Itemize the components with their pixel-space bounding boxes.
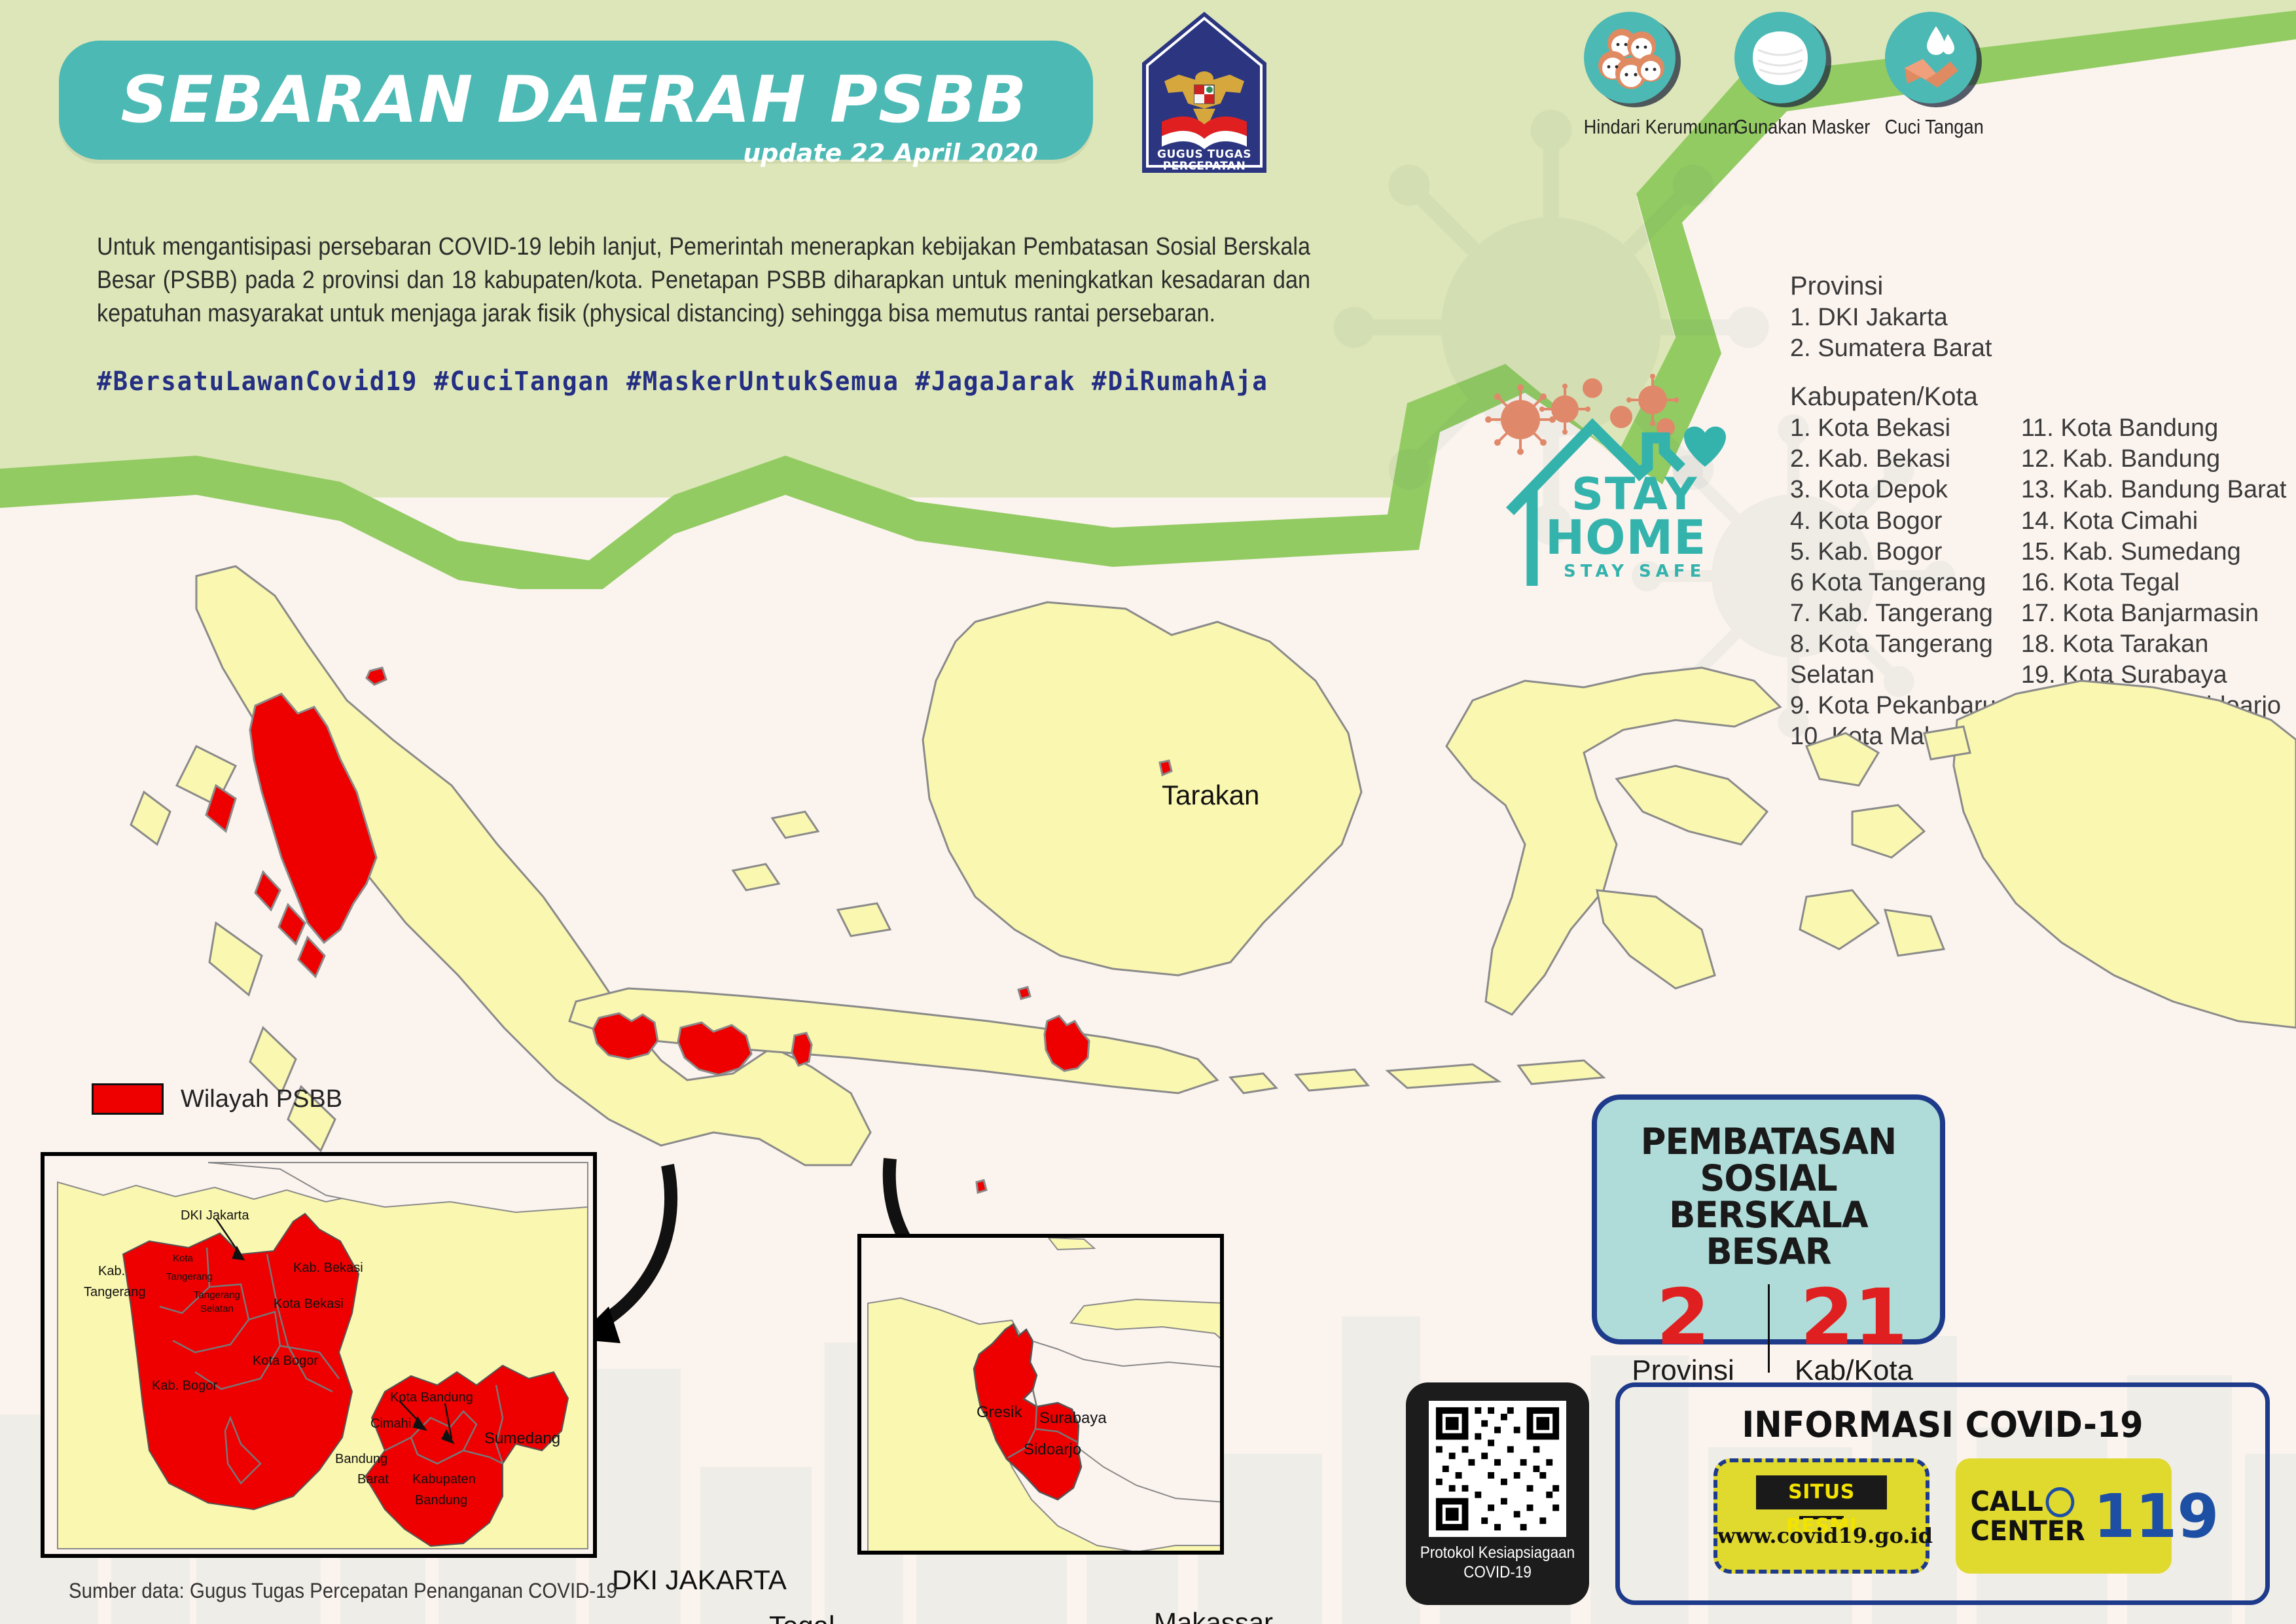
inset-label-bandung: Bandung — [335, 1452, 387, 1467]
list-item-provinsi: 2. Sumatera Barat — [1790, 333, 2287, 364]
call-center-line1: CALL — [1971, 1488, 2043, 1515]
call-center-number: 119 — [2093, 1481, 2219, 1551]
page-title: SEBARAN DAERAH PSBB — [120, 63, 1027, 137]
inset-label-kab-tangerang: Tangerang — [84, 1285, 146, 1300]
source-note: Sumber data: Gugus Tugas Percepatan Pena… — [69, 1579, 617, 1603]
icon-label-crowd: Hindari Kerumunan — [1584, 115, 1676, 139]
inset-label-kota: Kota — [173, 1253, 193, 1264]
list-heading-provinsi: Provinsi — [1790, 272, 2287, 301]
map-legend: Wilayah PSBB — [92, 1083, 342, 1115]
inset-label-gresik: Gresik — [977, 1403, 1022, 1422]
qr-caption-line2: COVID-19 — [1415, 1563, 1580, 1583]
map-label-tarakan: Tarakan — [1162, 780, 1259, 811]
map-label-dki-jakarta: DKI JAKARTA — [612, 1564, 787, 1596]
indonesia-map: Tarakan Pekanbaru SUMATERA BARAT Banjarm… — [0, 504, 2296, 1224]
list-item-kabkota: 1. Kota Bekasi — [1790, 413, 1998, 444]
stat-value-provinsi: 2 — [1608, 1278, 1759, 1356]
inset-label-selatan: Selatan — [200, 1303, 234, 1314]
inset-label-surabaya: Surabaya — [1039, 1409, 1107, 1428]
info-box-title: INFORMASI COVID-19 — [1640, 1404, 2246, 1445]
inset-label-tangerang-2: Tangerang — [194, 1290, 240, 1301]
inset-label-kota-bogor: Kota Bogor — [253, 1354, 318, 1369]
inset-map-jatim: Gresik Surabaya Sidoarjo — [857, 1234, 1224, 1555]
stat-value-kabkota: 21 — [1779, 1278, 1929, 1356]
inset-label-barat: Barat — [357, 1472, 389, 1487]
call-center-label: CALL CENTER — [1971, 1487, 2085, 1545]
inset-map-jabar: DKI Jakarta Kab. Bekasi Kota Bekasi Kota… — [41, 1152, 597, 1558]
legend-swatch-psbb — [92, 1083, 164, 1115]
crowd-icon — [1584, 12, 1676, 103]
icon-item-mask: Gunakan Masker — [1728, 12, 1833, 182]
legend-label-psbb: Wilayah PSBB — [181, 1085, 342, 1113]
qr-code-image — [1429, 1401, 1566, 1537]
inset-label-kabupaten: Kabupaten — [412, 1472, 476, 1487]
logo-text-line2: PERCEPATAN — [1142, 160, 1266, 173]
inset-label-sumedang: Sumedang — [484, 1430, 560, 1448]
logo-text-line1: GUGUS TUGAS — [1142, 148, 1266, 161]
map-label-makassar: Makassar — [1154, 1607, 1273, 1624]
intro-paragraph: Untuk mengantisipasi persebaran COVID-19… — [97, 230, 1310, 331]
inset-label-bandung-2: Bandung — [415, 1493, 467, 1508]
inset-label-cimahi: Cimahi — [370, 1416, 411, 1432]
covid-info-box: INFORMASI COVID-19 SITUS RESMI www.covid… — [1615, 1382, 2270, 1605]
phone-icon — [2045, 1487, 2074, 1517]
icon-label-mask: Gunakan Masker — [1734, 115, 1827, 139]
stat-row: 2 Provinsi 21 Kab/Kota — [1597, 1278, 1940, 1386]
map-label-tegal: Tegal — [769, 1610, 834, 1624]
icon-label-handwash: Cuci Tangan — [1885, 115, 1977, 139]
situs-resmi-badge: SITUS RESMI — [1756, 1475, 1887, 1509]
official-site-card[interactable]: SITUS RESMI www.covid19.go.id — [1713, 1458, 1929, 1574]
prevention-icons-group: Hindari Kerumunan Gunakan Masker — [1577, 12, 2232, 182]
inset-label-kab-bekasi: Kab. Bekasi — [293, 1261, 363, 1276]
list-item-kabkota: 11. Kota Bandung — [2021, 413, 2287, 444]
info-box-row: SITUS RESMI www.covid19.go.id CALL CENTE… — [1620, 1458, 2265, 1574]
icon-item-handwash: Cuci Tangan — [1878, 12, 1983, 182]
inset-label-kab: Kab. — [98, 1264, 125, 1279]
inset-label-kab-bogor: Kab. Bogor — [152, 1379, 217, 1394]
title-pill: SEBARAN DAERAH PSBB update 22 April 2020 — [59, 41, 1093, 160]
update-date: update 22 April 2020 — [743, 139, 1038, 168]
inset-label-sidoarjo: Sidoarjo — [1024, 1441, 1081, 1459]
website-url[interactable]: www.covid19.go.id — [1717, 1523, 1926, 1548]
stat-divider — [1768, 1284, 1770, 1372]
gugus-tugas-logo: GUGUS TUGAS PERCEPATAN — [1142, 12, 1266, 173]
list-item-kabkota: 3. Kota Depok — [1790, 475, 1998, 505]
inset-label-kota-bekasi: Kota Bekasi — [274, 1297, 344, 1312]
inset-label-tangerang: Tangerang — [166, 1271, 213, 1282]
handwash-icon — [1885, 12, 1977, 103]
list-item-kabkota: 2. Kab. Bekasi — [1790, 444, 1998, 475]
call-center-card[interactable]: CALL CENTER 119 — [1956, 1458, 2172, 1574]
stat-title-line1: PEMBATASAN SOSIAL — [1604, 1123, 1933, 1197]
stat-box-title: PEMBATASAN SOSIAL BERSKALA BESAR — [1604, 1123, 1933, 1270]
list-item-provinsi: 1. DKI Jakarta — [1790, 302, 2287, 333]
qr-code-card[interactable]: Protokol Kesiapsiagaan COVID-19 — [1406, 1382, 1589, 1605]
stat-title-line2: BERSKALA BESAR — [1604, 1197, 1933, 1270]
inset-label-dki-jakarta: DKI Jakarta — [181, 1208, 249, 1223]
mask-icon — [1734, 12, 1826, 103]
qr-caption-line1: Protokol Kesiapsiagaan — [1415, 1543, 1580, 1563]
icon-item-crowd: Hindari Kerumunan — [1577, 12, 1682, 182]
list-heading-kabkota: Kabupaten/Kota — [1790, 382, 2287, 412]
list-item-kabkota: 13. Kab. Bandung Barat — [2021, 475, 2287, 505]
psbb-stat-box: PEMBATASAN SOSIAL BERSKALA BESAR 2 Provi… — [1592, 1094, 1945, 1344]
call-center-line2: CENTER — [1971, 1517, 2085, 1545]
infographic-poster: SEBARAN DAERAH PSBB update 22 April 2020… — [0, 0, 2296, 1624]
hashtag-line: #BersatuLawanCovid19 #CuciTangan #Masker… — [97, 367, 1268, 397]
list-item-kabkota: 12. Kab. Bandung — [2021, 444, 2287, 475]
inset-label-kota-bandung: Kota Bandung — [390, 1390, 473, 1405]
stat-cell-kabkota: 21 Kab/Kota — [1779, 1278, 1929, 1386]
stat-cell-provinsi: 2 Provinsi — [1608, 1278, 1759, 1386]
